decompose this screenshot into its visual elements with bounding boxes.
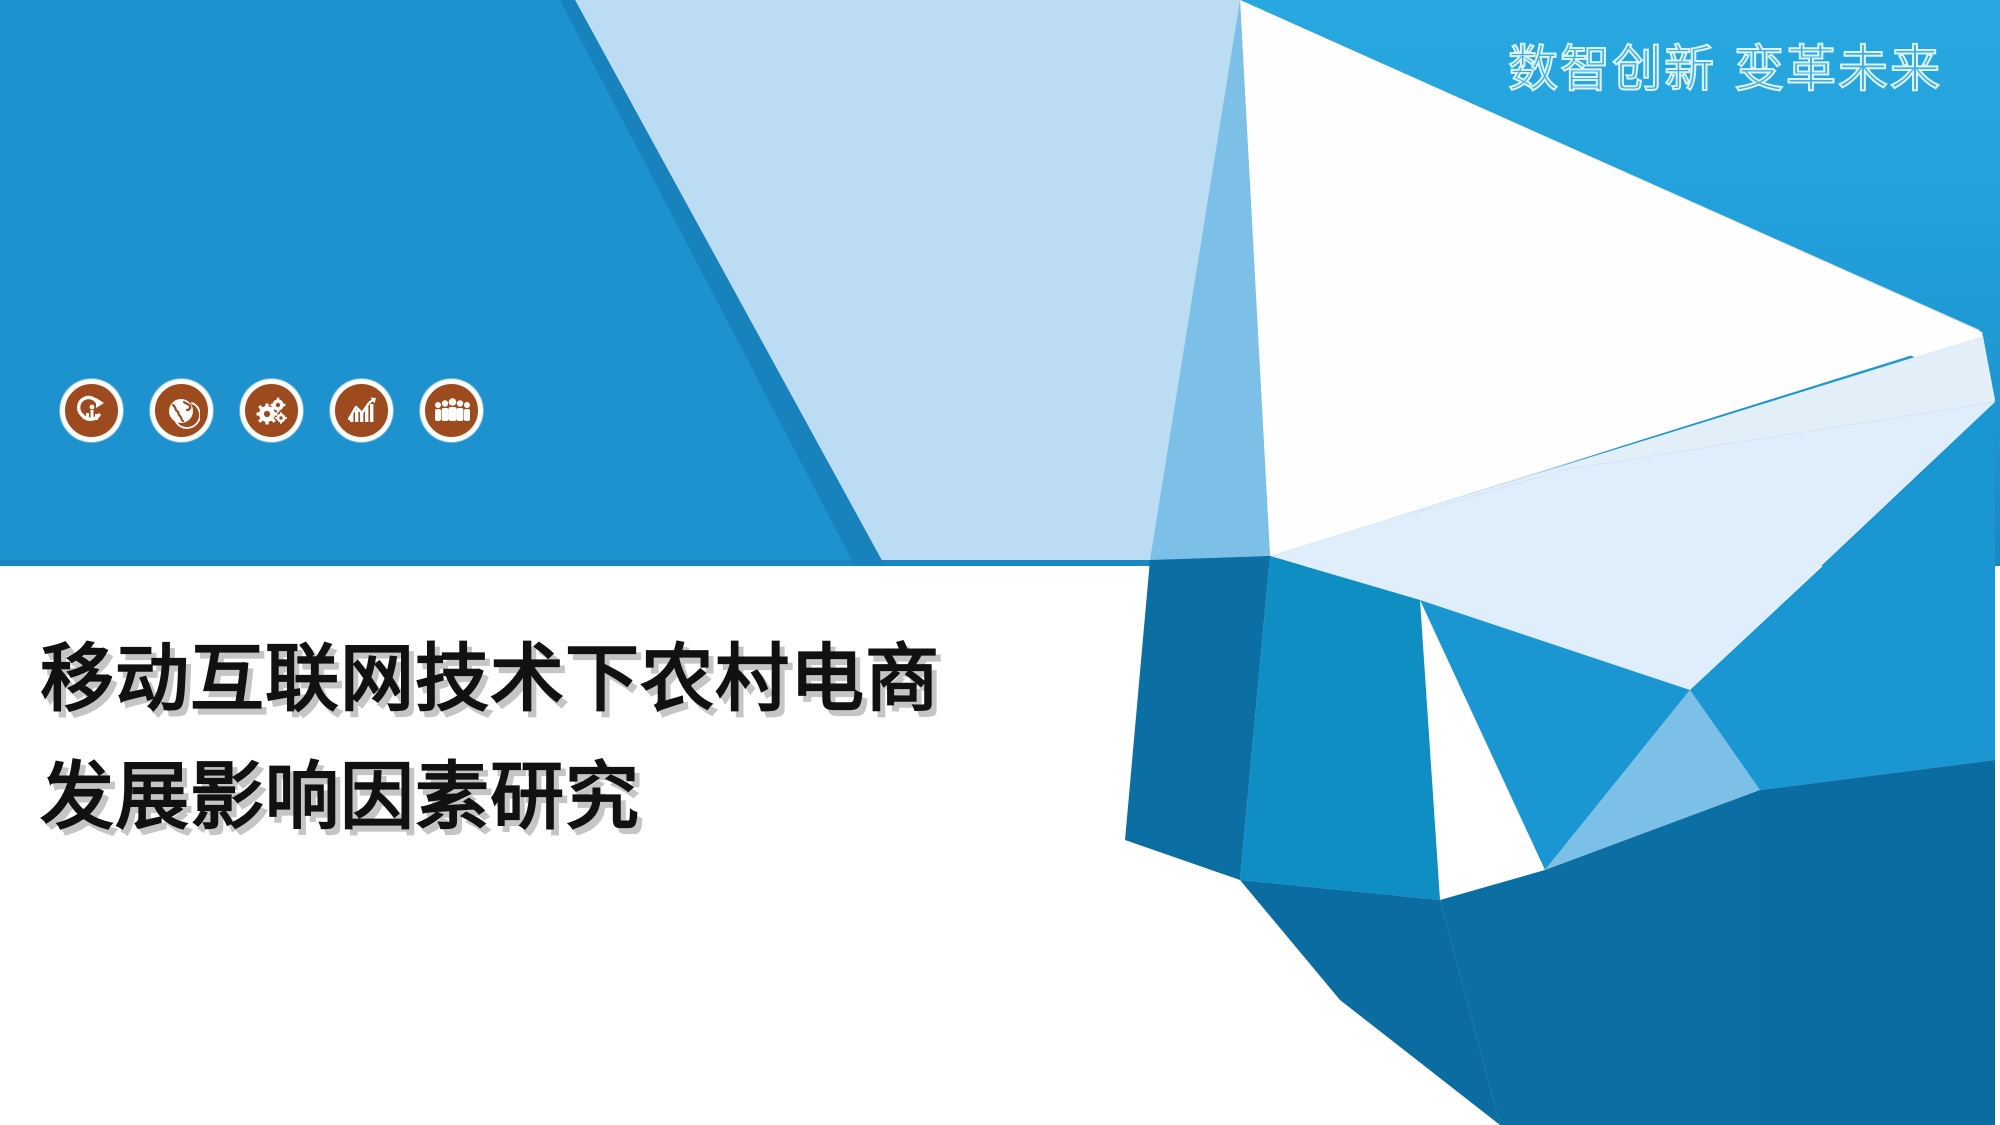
poly-facet-blue-lower bbox=[1240, 556, 1440, 900]
slide-tagline: 数智创新 变革未来 bbox=[1508, 44, 1942, 94]
globe-glyph bbox=[164, 393, 200, 429]
title-line-1: 移动互联网技术下农村电商 bbox=[40, 620, 940, 738]
gears-glyph bbox=[254, 393, 290, 429]
poly-facet-deep-bottom-b bbox=[1760, 760, 1995, 1125]
gears-icon[interactable] bbox=[240, 379, 303, 442]
presentation-slide: 数智创新 变革未来 bbox=[0, 0, 2000, 1125]
globe-icon[interactable] bbox=[150, 379, 213, 442]
title-line-2: 发展影响因素研究 bbox=[40, 738, 940, 856]
growth-cycle-icon[interactable] bbox=[60, 379, 123, 442]
growth-cycle-glyph bbox=[74, 393, 110, 429]
bar-chart-growth-icon[interactable] bbox=[330, 379, 393, 442]
people-group-glyph bbox=[433, 396, 471, 426]
slide-title: 移动互联网技术下农村电商 发展影响因素研究 bbox=[40, 620, 940, 856]
low-poly-background-art bbox=[0, 0, 2000, 1125]
people-group-icon[interactable] bbox=[420, 379, 483, 442]
icon-badge-row bbox=[60, 379, 483, 442]
bar-chart-growth-glyph bbox=[344, 393, 380, 429]
